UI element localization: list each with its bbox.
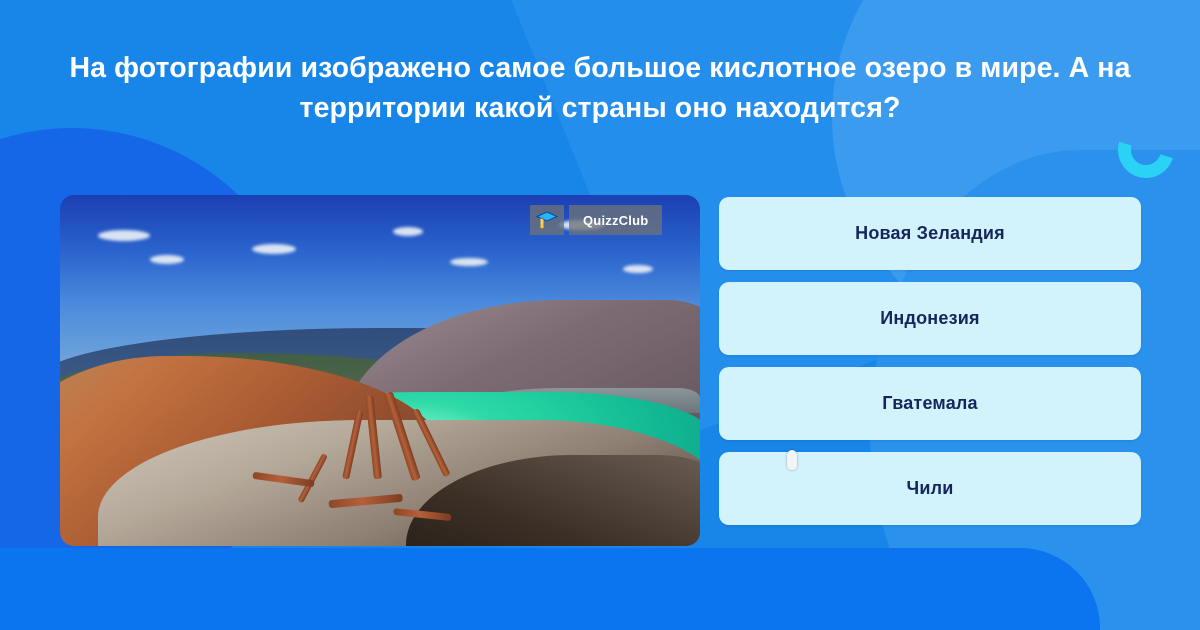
- watermark-brand-label: QuizzClub: [569, 205, 662, 235]
- question-title: На фотографии изображено самое большое к…: [60, 48, 1140, 128]
- answer-option-4-label: Чили: [906, 478, 953, 499]
- question-image-card: QuizzClub: [60, 195, 700, 546]
- crater-lake-photo: [60, 195, 700, 546]
- cloud-icon: [150, 255, 184, 264]
- background-bottom-band: [0, 548, 1100, 630]
- answer-option-3-label: Гватемала: [882, 393, 978, 414]
- answer-option-3[interactable]: Гватемала: [719, 367, 1141, 440]
- cloud-icon: [393, 227, 423, 236]
- answer-option-2-label: Индонезия: [880, 308, 979, 329]
- answer-option-1[interactable]: Новая Зеландия: [719, 197, 1141, 270]
- quizzclub-watermark: QuizzClub: [530, 205, 662, 235]
- answer-option-4[interactable]: Чили: [719, 452, 1141, 525]
- answer-option-1-label: Новая Зеландия: [855, 223, 1005, 244]
- answer-option-2[interactable]: Индонезия: [719, 282, 1141, 355]
- watermark-icon-box: [530, 205, 564, 235]
- graduation-cap-icon: [536, 211, 558, 229]
- mouse-cursor-icon: [787, 450, 797, 470]
- answer-options-list: Новая Зеландия Индонезия Гватемала Чили: [719, 197, 1141, 525]
